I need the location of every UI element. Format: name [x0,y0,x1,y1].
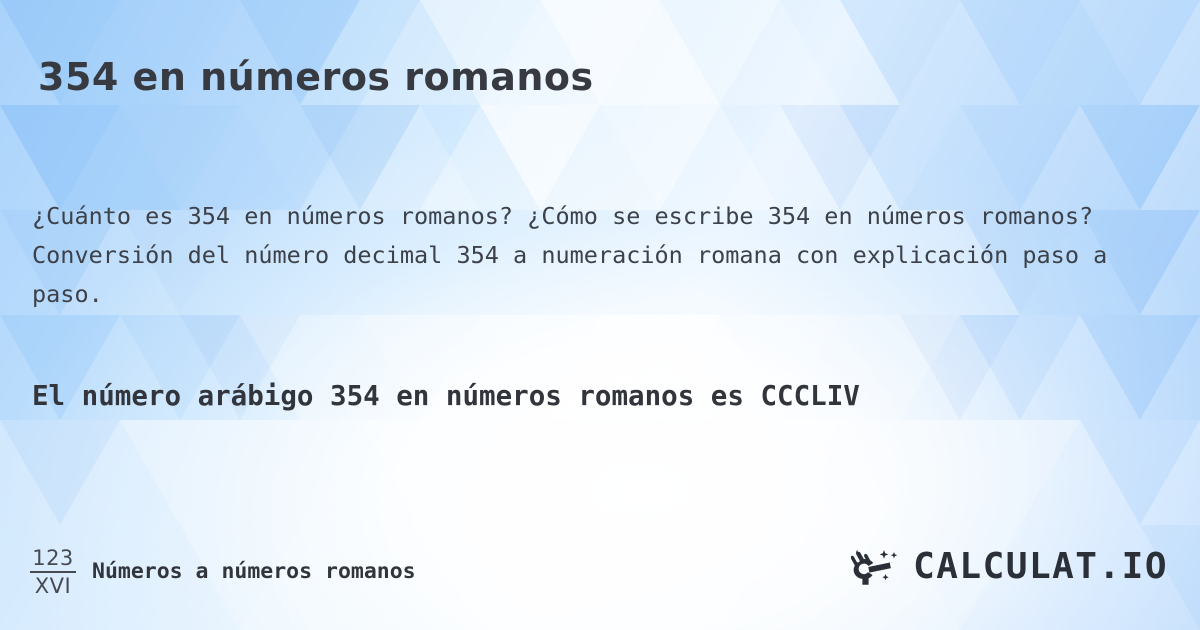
fraction-numerator: 123 [32,548,74,571]
fraction-123-xvi-icon: 123 XVI [30,546,76,597]
footer-section-label: Números a números romanos [92,559,416,584]
intro-paragraph: ¿Cuánto es 354 en números romanos? ¿Cómo… [32,197,1142,314]
answer-statement: El número arábigo 354 en números romanos… [32,373,1142,419]
page-title: 354 en números romanos [38,55,594,101]
page-root: 354 en números romanos ¿Cuánto es 354 en… [0,0,1200,630]
content-layer: 354 en números romanos ¿Cuánto es 354 en… [0,0,1200,630]
brand-wordmark: CALCULAT.IO [913,549,1168,585]
footer: 123 XVI Números a números romanos [0,540,1200,610]
footer-brand-left[interactable]: 123 XVI Números a números romanos [30,546,416,597]
fraction-denominator: XVI [35,573,71,597]
hand-magic-wand-icon [851,546,907,588]
footer-brand-right[interactable]: CALCULAT.IO [851,546,1168,588]
